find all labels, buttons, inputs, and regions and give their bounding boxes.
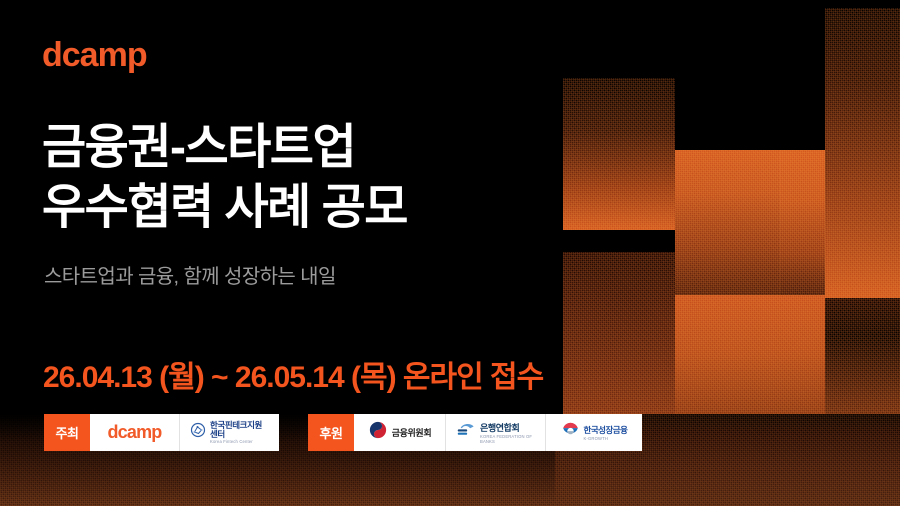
- sponsor-badge: 후원: [308, 414, 354, 451]
- subtitle: 스타트업과 금융, 함께 성장하는 내일: [44, 260, 336, 289]
- dcamp-logo[interactable]: dcamp: [42, 36, 147, 75]
- partner-logo-sublabel: KOREA FEDERATION OF BANKS: [480, 434, 535, 444]
- partner-logo-sublabel: K-GROWTH: [584, 436, 628, 441]
- partner-logo-dcamp[interactable]: dcamp: [90, 414, 180, 451]
- partner-logo-label: 은행연합회: [480, 421, 535, 434]
- page-title: 금융권-스타트업 우수협력 사례 공모: [42, 118, 407, 238]
- sponsor-logo-strip: 금융위원회 은행연합회 KOREA FEDERATION OF BANKS: [354, 414, 642, 451]
- partner-logo-korea-federation-of-banks[interactable]: 은행연합회 KOREA FEDERATION OF BANKS: [446, 414, 546, 451]
- kfb-emblem-icon: [456, 422, 476, 443]
- partner-logo-textblock: 한국성장금융 K-GROWTH: [584, 424, 628, 441]
- partner-logo-label: 한국성장금융: [584, 424, 628, 436]
- fintech-center-emblem-icon: [190, 422, 206, 443]
- partner-logo-textblock: 은행연합회 KOREA FEDERATION OF BANKS: [480, 421, 535, 444]
- partner-logo-label: dcamp: [107, 422, 161, 443]
- kgi-emblem-icon: [561, 421, 580, 445]
- taegeuk-emblem-icon: [368, 420, 388, 445]
- partner-logo-korea-fintech-center[interactable]: 한국핀테크지원센터 Korea Fintech Center: [180, 414, 279, 451]
- partner-logo-textblock: 한국핀테크지원센터 Korea Fintech Center: [210, 421, 269, 444]
- partner-logo-label: 한국핀테크지원센터: [210, 421, 269, 439]
- poster-content: dcamp 금융권-스타트업 우수협력 사례 공모 스타트업과 금융, 함께 성…: [0, 0, 900, 506]
- application-period: 26.04.13 (월) ~ 26.05.14 (목) 온라인 접수: [43, 352, 543, 396]
- host-partner-group: 주최 dcamp: [44, 414, 279, 451]
- sponsor-partner-group: 후원 금융위원회: [308, 414, 642, 451]
- host-badge: 주최: [44, 414, 90, 451]
- host-logo-strip: dcamp 한국핀테크지원센터 Korea F: [90, 414, 279, 451]
- partner-logo-korea-growth-investment[interactable]: 한국성장금융 K-GROWTH: [546, 414, 642, 451]
- partner-logo-financial-services-commission[interactable]: 금융위원회: [354, 414, 446, 451]
- poster-canvas: dcamp 금융권-스타트업 우수협력 사례 공모 스타트업과 금융, 함께 성…: [0, 0, 900, 506]
- partner-logo-sublabel: Korea Fintech Center: [210, 439, 269, 444]
- partner-logo-label: 금융위원회: [392, 426, 431, 439]
